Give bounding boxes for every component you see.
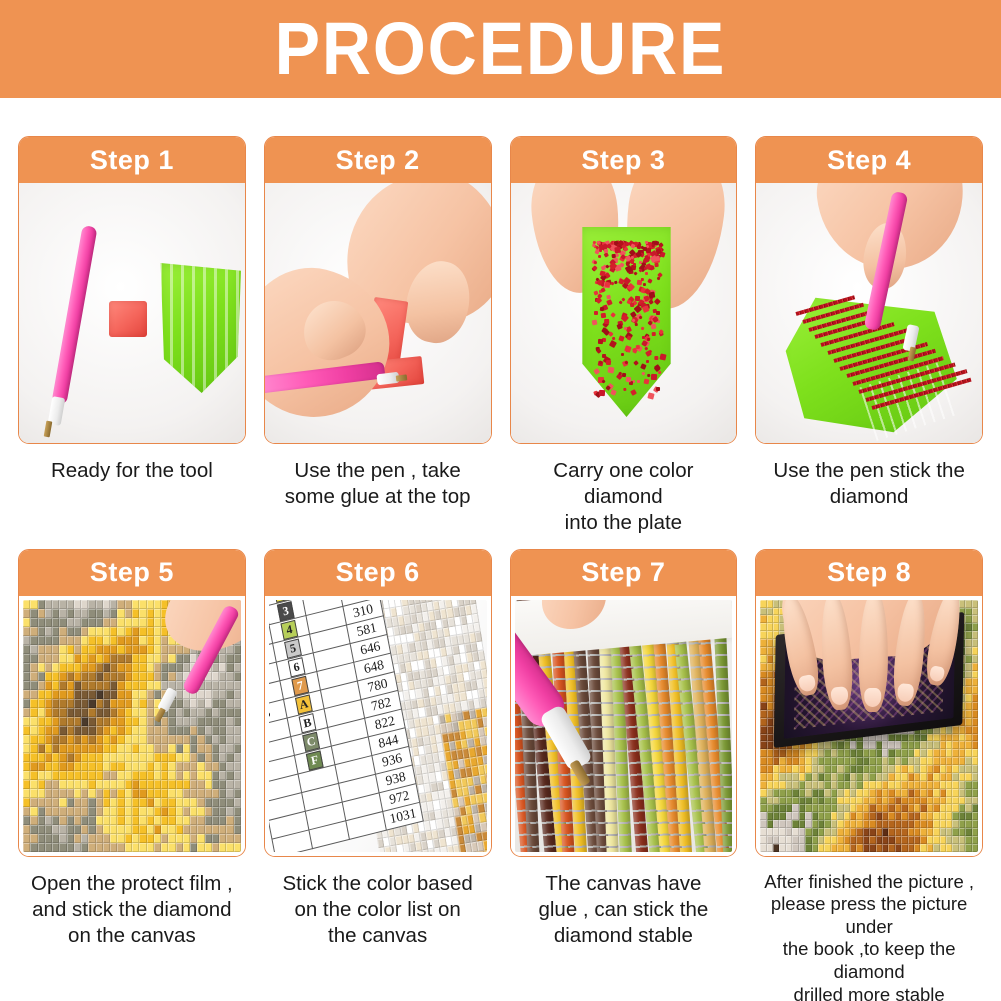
mosaic-cell: [110, 816, 117, 825]
caption-line: Open the protect film ,: [24, 871, 240, 897]
mosaic-cell: [125, 726, 132, 735]
mosaic-cell: [219, 771, 226, 780]
mosaic-cell: [183, 798, 190, 807]
mosaic-cell: [30, 807, 37, 816]
mosaic-cell: [38, 816, 45, 825]
mosaic-cell: [30, 744, 37, 753]
mosaic-cell: [45, 672, 52, 681]
mosaic-cell: [110, 798, 117, 807]
mosaic-cell: [212, 690, 219, 699]
mosaic-cell: [117, 816, 124, 825]
mosaic-cell: [481, 669, 486, 679]
mosaic-cell: [132, 807, 139, 816]
mosaic-cell: [190, 717, 197, 726]
mosaic-row: [23, 717, 241, 726]
mosaic-cell: [197, 834, 204, 843]
mosaic-cell: [234, 645, 241, 654]
diamond-bead: [647, 392, 654, 399]
mosaic-cell: [81, 663, 88, 672]
mosaic-cell: [103, 699, 110, 708]
diamond-bead: [593, 290, 598, 295]
mosaic-cell: [234, 798, 241, 807]
mosaic-cell: [190, 744, 197, 753]
mosaic-cell: [52, 807, 59, 816]
mosaic-cell: [23, 780, 30, 789]
mosaic-cell: [154, 744, 161, 753]
mosaic-cell: [52, 600, 59, 609]
beads-photo-7: [515, 600, 733, 852]
mosaic-cell: [52, 645, 59, 654]
mosaic-cell: [205, 816, 212, 825]
mosaic-cell: [110, 825, 117, 834]
mosaic-cell: [117, 708, 124, 717]
mosaic-cell: [132, 726, 139, 735]
mosaic-cell: [30, 780, 37, 789]
mosaic-cell: [139, 834, 146, 843]
mosaic-cell: [226, 744, 233, 753]
mosaic-cell: [45, 690, 52, 699]
diamond-bead: [608, 367, 615, 374]
mosaic-cell: [132, 735, 139, 744]
mosaic-cell: [67, 654, 74, 663]
diamond-bead: [657, 370, 661, 374]
mosaic-cell: [234, 672, 241, 681]
diamond-bead: [633, 360, 639, 366]
mosaic-cell: [132, 780, 139, 789]
mosaic-cell: [161, 672, 168, 681]
mosaic-cell: [139, 645, 146, 654]
caption-line: on the canvas: [24, 923, 240, 949]
mosaic-cell: [81, 825, 88, 834]
diamond-bead: [600, 287, 606, 293]
mosaic-cell: [972, 844, 978, 852]
mosaic-cell: [205, 753, 212, 762]
mosaic-cell: [234, 762, 241, 771]
mosaic-cell: [212, 663, 219, 672]
mosaic-cell: [132, 762, 139, 771]
mosaic-cell: [205, 780, 212, 789]
diamond-bead: [630, 243, 635, 248]
mosaic-cell: [176, 771, 183, 780]
mosaic-cell: [67, 627, 74, 636]
mosaic-cell: [81, 681, 88, 690]
mosaic-cell: [197, 735, 204, 744]
mosaic-cell: [74, 708, 81, 717]
mosaic-cell: [212, 717, 219, 726]
mosaic-cell: [972, 710, 978, 718]
mosaic-cell: [212, 834, 219, 843]
mosaic-cell: [234, 816, 241, 825]
mosaic-cell: [45, 834, 52, 843]
mosaic-cell: [205, 744, 212, 753]
fingernail: [798, 674, 816, 693]
mosaic-cell: [117, 681, 124, 690]
mosaic-cell: [110, 780, 117, 789]
chart-photo-6: No.SymbolSymbolDMC1122300333074431055581…: [269, 600, 487, 852]
step-image-5: [19, 596, 245, 856]
mosaic-cell: [45, 744, 52, 753]
mosaic-cell: [74, 672, 81, 681]
mosaic-cell: [147, 735, 154, 744]
step-caption-5: Open the protect film , and stick the di…: [18, 871, 246, 950]
mosaic-cell: [226, 690, 233, 699]
mosaic-cell: [190, 762, 197, 771]
mosaic-cell: [154, 753, 161, 762]
diamond-bead: [623, 388, 627, 392]
mosaic-cell: [96, 807, 103, 816]
mosaic-cell: [972, 789, 978, 797]
mosaic-cell: [234, 753, 241, 762]
mosaic-cell: [132, 825, 139, 834]
mosaic-cell: [219, 762, 226, 771]
mosaic-cell: [972, 726, 978, 734]
mosaic-cell: [45, 726, 52, 735]
mosaic-cell: [125, 690, 132, 699]
mosaic-cell: [205, 825, 212, 834]
mosaic-cell: [190, 735, 197, 744]
diamond-bead: [594, 311, 598, 315]
mosaic-cell: [190, 825, 197, 834]
mosaic-cell: [81, 699, 88, 708]
mosaic-cell: [125, 609, 132, 618]
mosaic-cell: [45, 735, 52, 744]
mosaic-cell: [59, 663, 66, 672]
mosaic-cell: [110, 789, 117, 798]
mosaic-cell: [81, 771, 88, 780]
mosaic-cell: [30, 672, 37, 681]
mosaic-cell: [88, 789, 95, 798]
diamond-bead: [592, 367, 599, 374]
mosaic-cell: [205, 798, 212, 807]
step-header-8: Step 8: [756, 550, 982, 596]
mosaic-cell: [234, 654, 241, 663]
mosaic-cell: [96, 834, 103, 843]
mosaic-cell: [176, 744, 183, 753]
mosaic-cell: [45, 771, 52, 780]
mosaic-row: [760, 844, 978, 852]
mosaic-cell: [67, 690, 74, 699]
mosaic-cell: [38, 627, 45, 636]
mosaic-cell: [59, 636, 66, 645]
mosaic-cell: [125, 699, 132, 708]
mosaic-cell: [38, 753, 45, 762]
mosaic-cell: [125, 762, 132, 771]
diamond-bead: [654, 298, 661, 305]
mosaic-cell: [219, 816, 226, 825]
mosaic-cell: [23, 717, 30, 726]
mosaic-cell: [154, 609, 161, 618]
page-title: PROCEDURE: [275, 12, 727, 86]
diamond-bead: [652, 332, 656, 336]
mosaic-cell: [132, 681, 139, 690]
mosaic-cell: [117, 807, 124, 816]
mosaic-cell: [88, 834, 95, 843]
step-caption-6: Stick the color based on the color list …: [264, 871, 492, 950]
mosaic-cell: [110, 807, 117, 816]
mosaic-cell: [81, 609, 88, 618]
mosaic-cell: [226, 798, 233, 807]
mosaic-cell: [88, 816, 95, 825]
mosaic-cell: [154, 627, 161, 636]
mosaic-cell: [234, 690, 241, 699]
mosaic-cell: [132, 708, 139, 717]
caption-line: After finished the picture ,: [761, 871, 977, 894]
diamond-bead: [630, 303, 634, 307]
mosaic-cell: [197, 708, 204, 717]
mosaic-cell: [212, 681, 219, 690]
step-cell-4: Step 4 U: [755, 136, 983, 537]
step-card-2: Step 2: [264, 136, 492, 444]
mosaic-cell: [67, 780, 74, 789]
mosaic-cell: [183, 780, 190, 789]
mosaic-cell: [139, 618, 146, 627]
mosaic-cell: [110, 672, 117, 681]
step-image-4: [756, 183, 982, 443]
mosaic-cell: [30, 825, 37, 834]
mosaic-cell: [183, 717, 190, 726]
mosaic-cell: [226, 717, 233, 726]
mosaic-cell: [972, 757, 978, 765]
mosaic-cell: [483, 678, 487, 688]
mosaic-cell: [212, 816, 219, 825]
mosaic-cell: [190, 843, 197, 852]
mosaic-cell: [147, 654, 154, 663]
mosaic-cell: [74, 816, 81, 825]
mosaic-cell: [103, 834, 110, 843]
mosaic-cell: [197, 726, 204, 735]
diamond-bead: [656, 311, 660, 315]
caption-line: The canvas have: [516, 871, 732, 897]
mosaic-cell: [212, 762, 219, 771]
mosaic-cell: [197, 690, 204, 699]
mosaic-cell: [103, 645, 110, 654]
mosaic-cell: [74, 771, 81, 780]
mosaic-cell: [147, 825, 154, 834]
mosaic-cell: [219, 663, 226, 672]
mosaic-cell: [110, 699, 117, 708]
mosaic-cell: [176, 708, 183, 717]
mosaic-cell: [147, 618, 154, 627]
mosaic-cell: [30, 708, 37, 717]
mosaic-cell: [45, 699, 52, 708]
diamond-bead: [647, 278, 652, 283]
mosaic-cell: [117, 762, 124, 771]
mosaic-cell: [139, 726, 146, 735]
mosaic-cell: [154, 816, 161, 825]
mosaic-cell: [38, 744, 45, 753]
diamond-bead: [597, 255, 601, 259]
mosaic-cell: [972, 812, 978, 820]
mosaic-cell: [972, 608, 978, 616]
mosaic-cell: [183, 663, 190, 672]
mosaic-cell: [38, 600, 45, 609]
mosaic-cell: [38, 762, 45, 771]
mosaic-cell: [110, 735, 117, 744]
step-caption-3: Carry one color diamond into the plate: [510, 458, 738, 537]
mosaic-cell: [23, 843, 30, 852]
mosaic-cell: [139, 681, 146, 690]
mosaic-cell: [110, 834, 117, 843]
mosaic-cell: [30, 834, 37, 843]
mosaic-cell: [125, 636, 132, 645]
mosaic-cell: [74, 735, 81, 744]
mosaic-cell: [219, 654, 226, 663]
mosaic-cell: [45, 780, 52, 789]
mosaic-cell: [52, 780, 59, 789]
diamond-bead: [592, 243, 596, 247]
mosaic-cell: [226, 834, 233, 843]
diamond-bead: [635, 323, 638, 326]
mosaic-cell: [38, 618, 45, 627]
mosaic-cell: [190, 780, 197, 789]
mosaic-cell: [117, 636, 124, 645]
mosaic-cell: [154, 843, 161, 852]
mosaic-cell: [59, 807, 66, 816]
mosaic-cell: [212, 708, 219, 717]
mosaic-cell: [154, 681, 161, 690]
mosaic-cell: [117, 672, 124, 681]
mosaic-cell: [154, 645, 161, 654]
mosaic-cell: [161, 753, 168, 762]
mosaic-cell: [183, 762, 190, 771]
mosaic-cell: [147, 762, 154, 771]
mosaic-cell: [117, 717, 124, 726]
mosaic-cell: [147, 690, 154, 699]
mosaic-cell: [30, 726, 37, 735]
mosaic-cell: [154, 825, 161, 834]
mosaic-cell: [81, 690, 88, 699]
mosaic-cell: [219, 672, 226, 681]
mosaic-cell: [38, 699, 45, 708]
mosaic-row: [760, 773, 978, 781]
mosaic-cell: [226, 762, 233, 771]
pen-nib-icon: [395, 374, 407, 381]
mosaic-cell: [176, 717, 183, 726]
mosaic-cell: [161, 645, 168, 654]
mosaic-row: [760, 757, 978, 765]
mosaic-cell: [81, 717, 88, 726]
mosaic-cell: [52, 699, 59, 708]
mosaic-cell: [74, 762, 81, 771]
diamond-bead: [600, 306, 604, 310]
mosaic-row: [760, 749, 978, 757]
mosaic-cell: [972, 718, 978, 726]
mosaic-cell: [38, 780, 45, 789]
mosaic-cell: [212, 807, 219, 816]
mosaic-cell: [154, 789, 161, 798]
mosaic-cell: [161, 789, 168, 798]
mosaic-cell: [30, 681, 37, 690]
mosaic-cell: [81, 600, 88, 609]
mosaic-cell: [219, 843, 226, 852]
mosaic-cell: [81, 744, 88, 753]
mosaic-cell: [88, 618, 95, 627]
mosaic-cell: [45, 762, 52, 771]
mosaic-cell: [226, 654, 233, 663]
step-caption-1: Ready for the tool: [18, 458, 246, 484]
caption-line: Use the pen stick the: [761, 458, 977, 484]
mosaic-cell: [147, 681, 154, 690]
caption-line: diamond: [761, 484, 977, 510]
mosaic-cell: [154, 807, 161, 816]
fingernail: [831, 686, 848, 706]
mosaic-cell: [81, 789, 88, 798]
mosaic-cell: [154, 735, 161, 744]
mosaic-cell: [972, 686, 978, 694]
diamond-bead: [638, 268, 642, 272]
mosaic-cell: [212, 798, 219, 807]
mosaic-cell: [81, 843, 88, 852]
mosaic-cell: [176, 681, 183, 690]
mosaic-cell: [103, 618, 110, 627]
mosaic-cell: [197, 843, 204, 852]
mosaic-cell: [168, 762, 175, 771]
diamond-bead: [595, 297, 603, 305]
mosaic-cell: [52, 681, 59, 690]
diamond-bead: [640, 326, 644, 330]
mosaic-cell: [125, 807, 132, 816]
mosaic-cell: [219, 717, 226, 726]
mosaic-cell: [168, 717, 175, 726]
mosaic-cell: [23, 744, 30, 753]
mosaic-cell: [197, 780, 204, 789]
mosaic-cell: [125, 816, 132, 825]
mosaic-cell: [168, 753, 175, 762]
mosaic-cell: [190, 789, 197, 798]
step-image-6: No.SymbolSymbolDMC1122300333074431055581…: [265, 596, 491, 856]
mosaic-cell: [132, 654, 139, 663]
mosaic-cell: [139, 780, 146, 789]
mosaic-cell: [197, 717, 204, 726]
mosaic-cell: [972, 694, 978, 702]
mosaic-cell: [52, 744, 59, 753]
mosaic-cell: [67, 816, 74, 825]
mosaic-cell: [972, 702, 978, 710]
mosaic-cell: [67, 663, 74, 672]
mosaic-cell: [161, 807, 168, 816]
mosaic-cell: [161, 771, 168, 780]
caption-line: drilled more stable: [761, 984, 977, 1001]
mosaic-cell: [74, 834, 81, 843]
mosaic-cell: [23, 609, 30, 618]
mosaic-cell: [139, 798, 146, 807]
mosaic-cell: [30, 654, 37, 663]
mosaic-cell: [117, 798, 124, 807]
mosaic-cell: [45, 816, 52, 825]
mosaic-cell: [110, 636, 117, 645]
mosaic-cell: [168, 789, 175, 798]
mosaic-cell: [96, 645, 103, 654]
mosaic-cell: [96, 618, 103, 627]
mosaic-cell: [59, 600, 66, 609]
mosaic-cell: [176, 780, 183, 789]
mosaic-cell: [205, 807, 212, 816]
mosaic-cell: [103, 600, 110, 609]
diamond-bead: [647, 374, 651, 378]
mosaic-row: [23, 825, 241, 834]
mosaic-cell: [117, 726, 124, 735]
mosaic-row: [23, 762, 241, 771]
mosaic-cell: [168, 663, 175, 672]
mosaic-cell: [30, 600, 37, 609]
mosaic-cell: [59, 771, 66, 780]
diamond-bead: [647, 338, 650, 341]
mosaic-cell: [226, 753, 233, 762]
mosaic-cell: [23, 690, 30, 699]
mosaic-cell: [52, 627, 59, 636]
mosaic-cell: [139, 825, 146, 834]
mosaic-cell: [103, 798, 110, 807]
